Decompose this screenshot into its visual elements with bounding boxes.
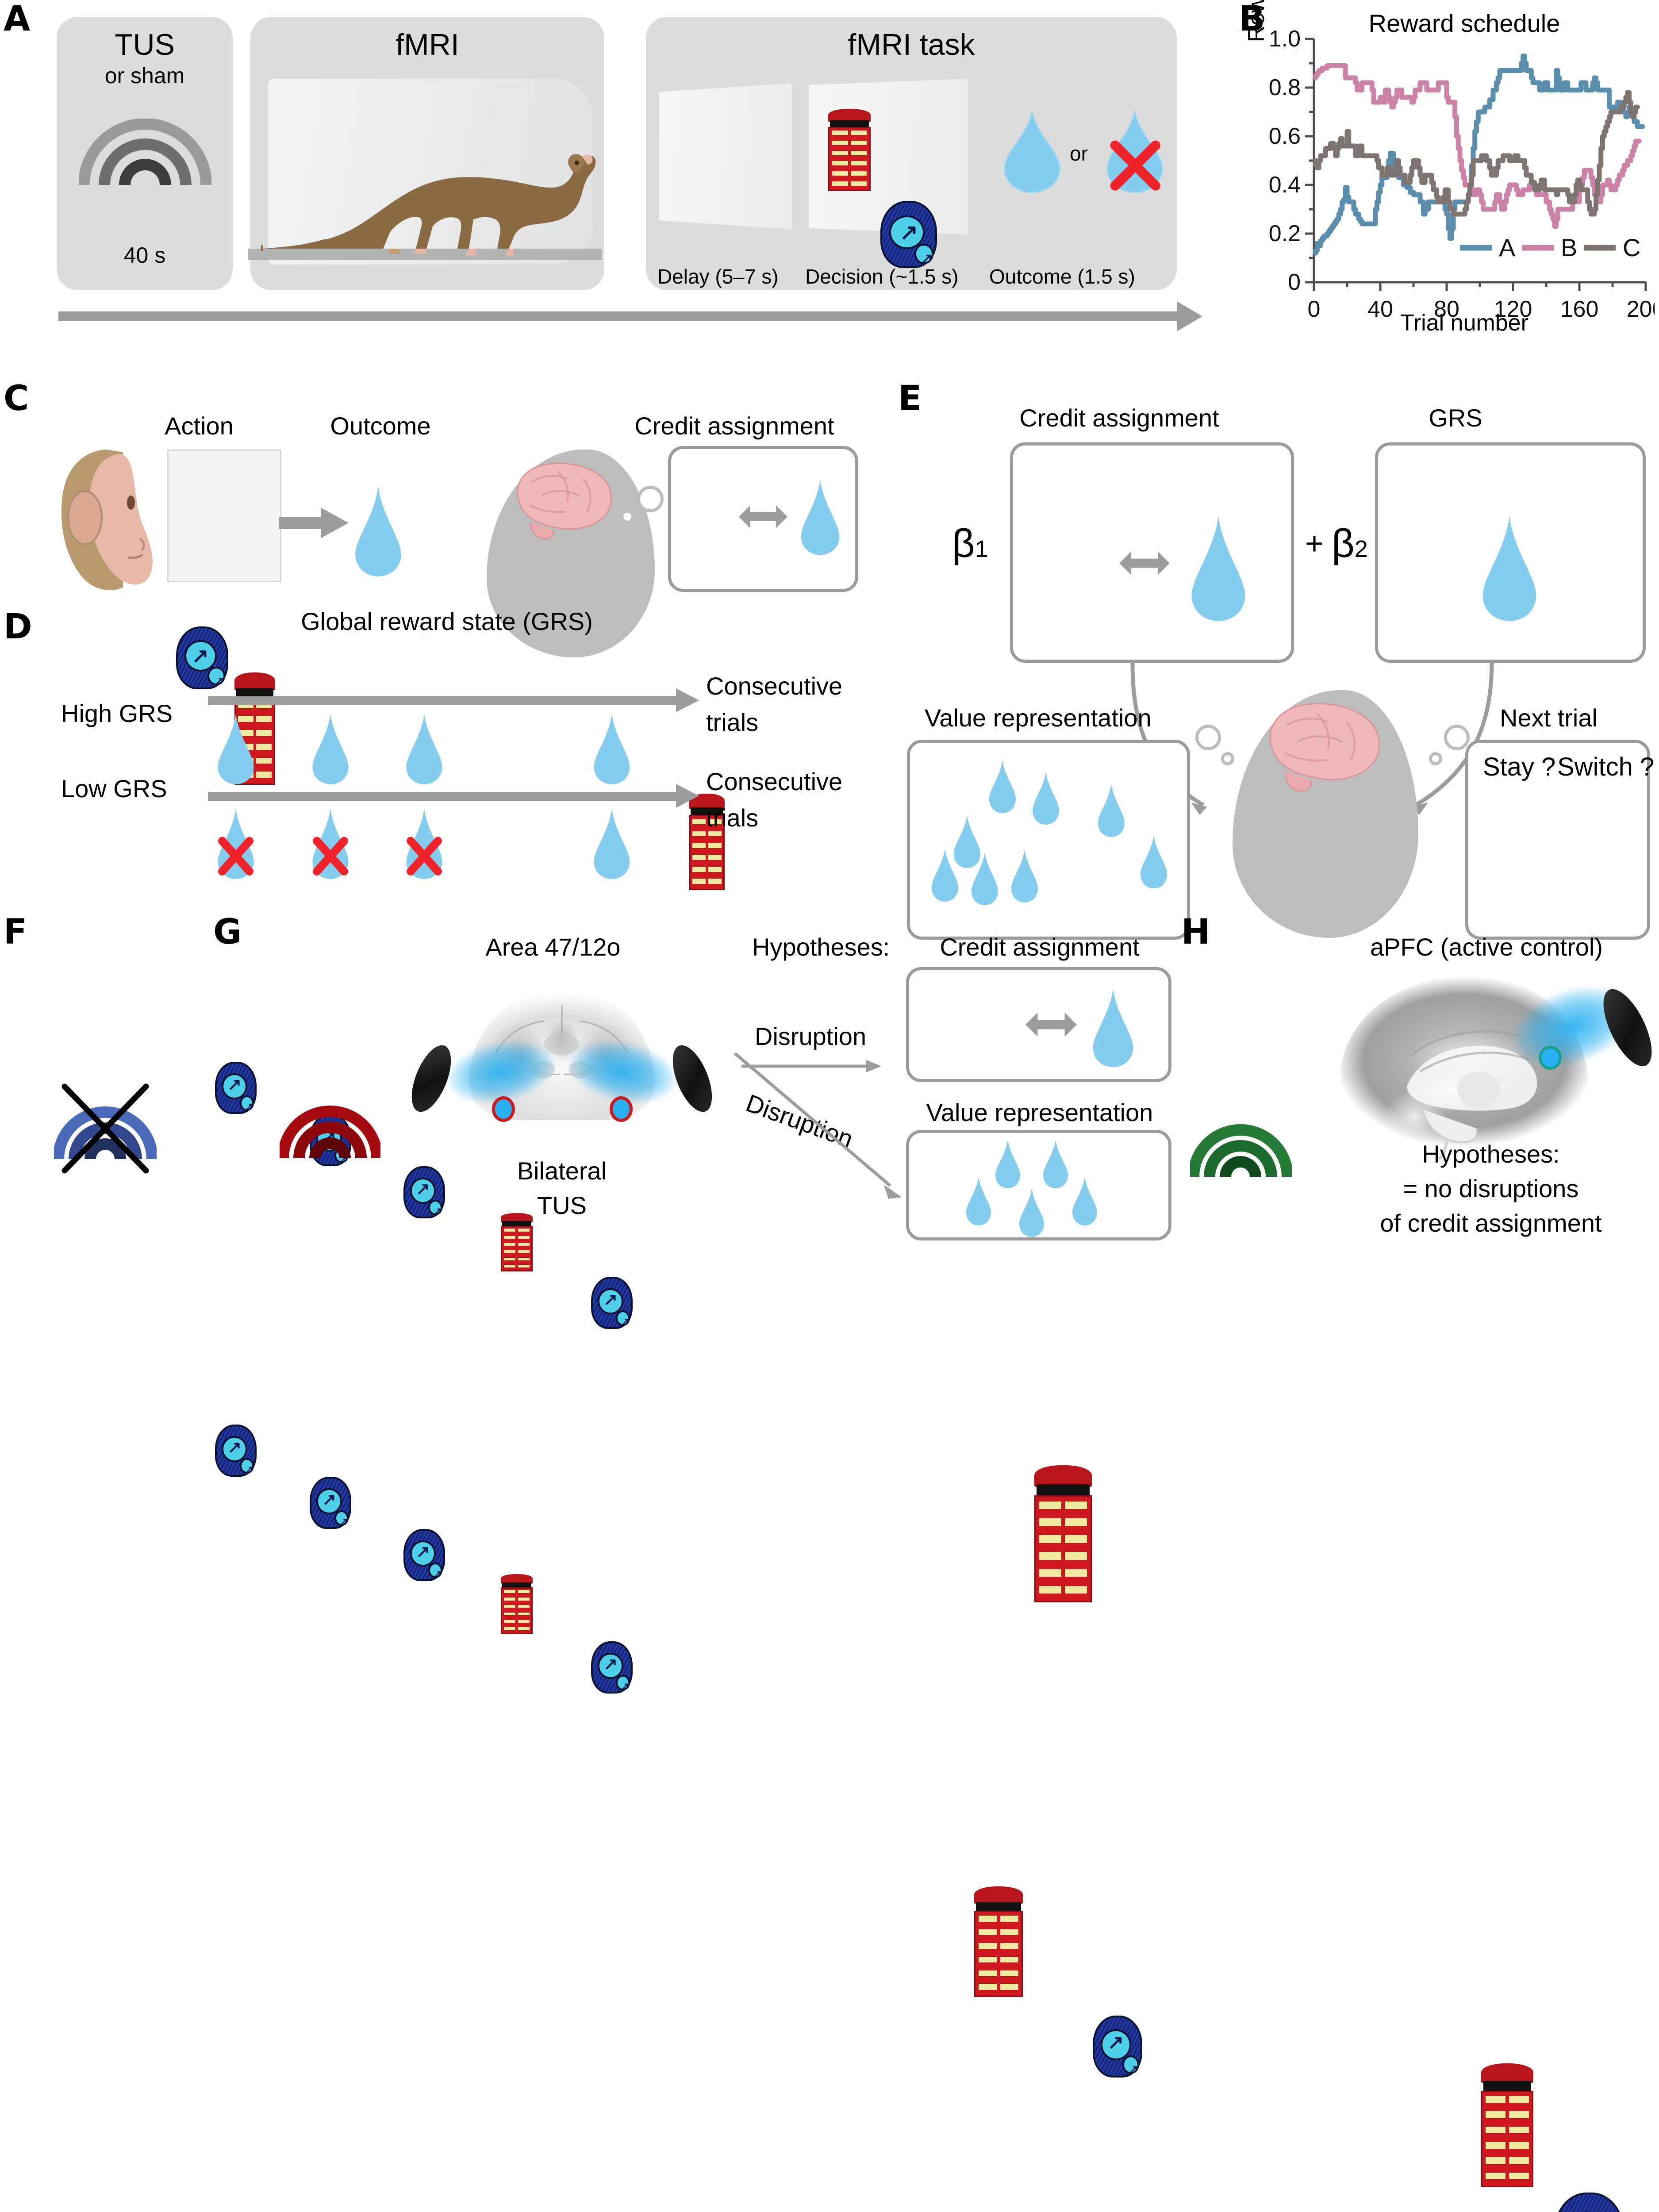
svg-text:0.4: 0.4 [1269, 172, 1301, 198]
brain-illustration-e [1256, 695, 1388, 797]
high-grs-trial-axis-line [208, 696, 677, 705]
task-phase-decision-label: Decision (~1.5 s) [805, 265, 958, 288]
sham-card-subtitle: No TUS [44, 1185, 165, 1212]
svg-text:C: C [1623, 234, 1640, 261]
plus-symbol: + [1305, 526, 1324, 562]
tus-card-h-subtitle: 40 s [1181, 1198, 1301, 1225]
panel-letter-h: H [1181, 915, 1210, 949]
svg-text:0.2: 0.2 [1269, 221, 1301, 246]
area-label-g: Area 47/12o [416, 933, 690, 961]
tus-card-g-subtitle: 40 s [270, 1187, 388, 1214]
phone-booth-icon-e [1034, 1465, 1092, 1602]
hyp2-title-g: Value representation [902, 1098, 1177, 1127]
label-outcome: Outcome [305, 411, 456, 440]
timeline-arrow-head [1177, 301, 1202, 331]
disruption-arrow-2 [734, 1053, 911, 1212]
thought-bubble-small-c [620, 510, 634, 524]
high-grs-axis-label-1: Consecutive [706, 672, 842, 700]
region-label-h: aPFC (active control) [1318, 933, 1655, 961]
switch-label: Switch ? [1557, 752, 1654, 782]
double-arrow-icon-e [1117, 549, 1172, 578]
high-grs-stim-booth [501, 1213, 533, 1271]
panel-letter-e: E [898, 381, 922, 416]
beta2-symbol: β2 [1332, 521, 1368, 567]
low-grs-trial-axis-line [208, 792, 677, 801]
value-rep-drops-right [1085, 782, 1182, 924]
beta1-symbol: β1 [952, 521, 988, 567]
tus-card-g-title: TUS [270, 994, 388, 1029]
reward-drop-icon-hyp1-g [1092, 987, 1134, 1069]
low-grs-axis-label-1: Consecutive [706, 767, 842, 796]
low-grs-stim-booth [501, 1574, 533, 1634]
hyp1-title-g: Credit assignment [902, 933, 1177, 961]
low-grs-outcome-3 [405, 806, 443, 881]
no-reward-drop-icon [1106, 110, 1164, 194]
panel-letter-f: F [4, 915, 27, 949]
thought-bubble-left-large-e [1195, 725, 1221, 750]
low-grs-trial-axis-head [676, 784, 699, 808]
arrow1-label-g: Disruption [755, 1022, 866, 1051]
thought-bubble-right-small-e [1429, 752, 1442, 765]
phone-booth-icon-value-rep-e [974, 1886, 1023, 1997]
svg-text:0.8: 0.8 [1269, 75, 1301, 100]
hypotheses-h-line3: of credit assignment [1323, 1209, 1659, 1237]
low-grs-stim-2: ↗↗ [310, 1477, 351, 1529]
reward-drop-icon-e2 [1481, 513, 1538, 624]
panel-letter-g: G [213, 915, 242, 949]
hypotheses-h-line2: = no disruptions [1323, 1174, 1659, 1203]
svg-text:A: A [1499, 234, 1516, 261]
label-next-trial-e: Next trial [1500, 703, 1598, 732]
action-stimulus-box [167, 449, 281, 582]
reward-drop-icon-credit-c [800, 476, 841, 558]
double-arrow-icon-c [739, 503, 787, 531]
blue-sign-icon-next-trial-e: ↗↗ [1554, 2193, 1624, 2212]
low-grs-stim-3: ↗↗ [403, 1529, 445, 1581]
fmri-task-card-title: fMRI task [646, 27, 1177, 62]
label-credit-assignment-e: Credit assignment [964, 403, 1274, 432]
tus-focus-left-g [492, 1096, 515, 1122]
task-phase-outcome-label: Outcome (1.5 s) [989, 265, 1135, 288]
action-to-outcome-arrow [279, 505, 349, 541]
thought-bubble-left-small-e [1221, 752, 1234, 765]
phone-booth-icon [828, 109, 871, 191]
low-grs-axis-label-2: trials [706, 803, 758, 832]
panel-d-title: Global reward state (GRS) [212, 607, 681, 636]
tus-card-title: TUS [57, 27, 233, 62]
tus-wave-icon-g [280, 1087, 380, 1176]
svg-text:1.0: 1.0 [1269, 27, 1301, 52]
chart-ylabel: Reward probability [1243, 0, 1270, 62]
low-grs-stim-1: ↗↗ [215, 1425, 257, 1477]
tus-card-h-title: TUS [1181, 1013, 1301, 1048]
high-grs-outcome-2 [311, 711, 349, 787]
task-screen-delay [659, 83, 792, 229]
low-grs-outcome-2 [311, 806, 349, 881]
outcome-or-label: or [1070, 142, 1088, 165]
value-rep-drops-hyp2-g [943, 1139, 1129, 1240]
high-grs-axis-label-2: trials [706, 708, 758, 737]
high-grs-trial-axis-head [676, 688, 699, 712]
high-grs-outcome-3 [405, 711, 443, 787]
hypotheses-h-line1: Hypotheses: [1323, 1140, 1659, 1168]
sham-card-title: Sham [44, 994, 165, 1029]
high-grs-outcome-1 [217, 711, 255, 787]
high-grs-stim-5: ↗↗ [591, 1277, 633, 1329]
outcome-drop-icon-c [354, 485, 403, 578]
value-rep-drops-left [928, 758, 1105, 931]
bilateral-label-line1: Bilateral [460, 1156, 664, 1185]
tus-wave-icon-h [1190, 1106, 1292, 1194]
macaque-illustration [261, 116, 597, 262]
tus-card-duration: 40 s [57, 242, 233, 268]
macaque-face-icon [53, 447, 159, 593]
blue-sign-icon: ↗ ↗ [880, 201, 937, 268]
high-grs-outcome-5 [593, 711, 631, 787]
phone-booth-icon-next-trial-e [1481, 2063, 1533, 2187]
chart-svg: 00.20.40.60.81.004080120160200 ABC [1265, 27, 1655, 336]
label-action: Action [124, 411, 274, 440]
timeline-arrow-line [58, 311, 1178, 321]
row-label-low-grs: Low GRS [61, 774, 167, 803]
reward-drop-icon-e1 [1190, 513, 1247, 624]
low-grs-outcome-1 [217, 806, 255, 881]
stay-label: Stay ? [1483, 752, 1555, 782]
label-grs-e: GRS [1363, 403, 1548, 432]
label-credit-assignment-c: Credit assignment [611, 411, 858, 440]
tus-focus-h [1539, 1046, 1562, 1070]
tus-wave-icon [79, 119, 211, 198]
svg-text:0.6: 0.6 [1269, 123, 1301, 149]
row-label-high-grs: High GRS [61, 699, 173, 728]
sham-crossed-wave-icon [54, 1079, 157, 1179]
fmri-card-title: fMRI [250, 27, 604, 62]
reward-schedule-chart: 00.20.40.60.81.004080120160200 ABC [1265, 27, 1655, 336]
task-phase-delay-label: Delay (5–7 s) [657, 265, 779, 288]
thought-bubble-right-large-e [1444, 725, 1470, 750]
tus-focus-right-g [610, 1096, 633, 1122]
panel-letter-c: C [4, 381, 29, 416]
low-grs-stim-5: ↗↗ [591, 1641, 633, 1694]
thought-bubble-large-c [637, 486, 664, 512]
bilateral-label-line2: TUS [460, 1191, 664, 1220]
panel-letter-d: D [4, 610, 32, 644]
blue-sign-icon-c: ↗ ↗ [176, 626, 228, 689]
svg-text:B: B [1561, 234, 1577, 261]
reward-drop-icon [1003, 110, 1061, 194]
svg-text:200: 200 [1627, 296, 1655, 322]
low-grs-outcome-5 [593, 806, 631, 881]
svg-text:0: 0 [1288, 269, 1301, 295]
blue-sign-icon-value-rep-e: ↗↗ [1093, 2016, 1142, 2078]
panel-letter-a: A [4, 2, 30, 36]
high-grs-stim-3: ↗↗ [403, 1166, 445, 1218]
high-grs-stim-1: ↗↗ [215, 1062, 257, 1114]
brain-illustration-c [504, 456, 619, 544]
label-value-representation-e: Value representation [925, 703, 1152, 732]
tus-card-subtitle: or sham [57, 63, 233, 88]
double-arrow-icon-hyp1-g [1025, 1009, 1077, 1041]
hypotheses-label-g: Hypotheses: [752, 933, 890, 961]
chart-xlabel: Trial number [1310, 310, 1619, 336]
